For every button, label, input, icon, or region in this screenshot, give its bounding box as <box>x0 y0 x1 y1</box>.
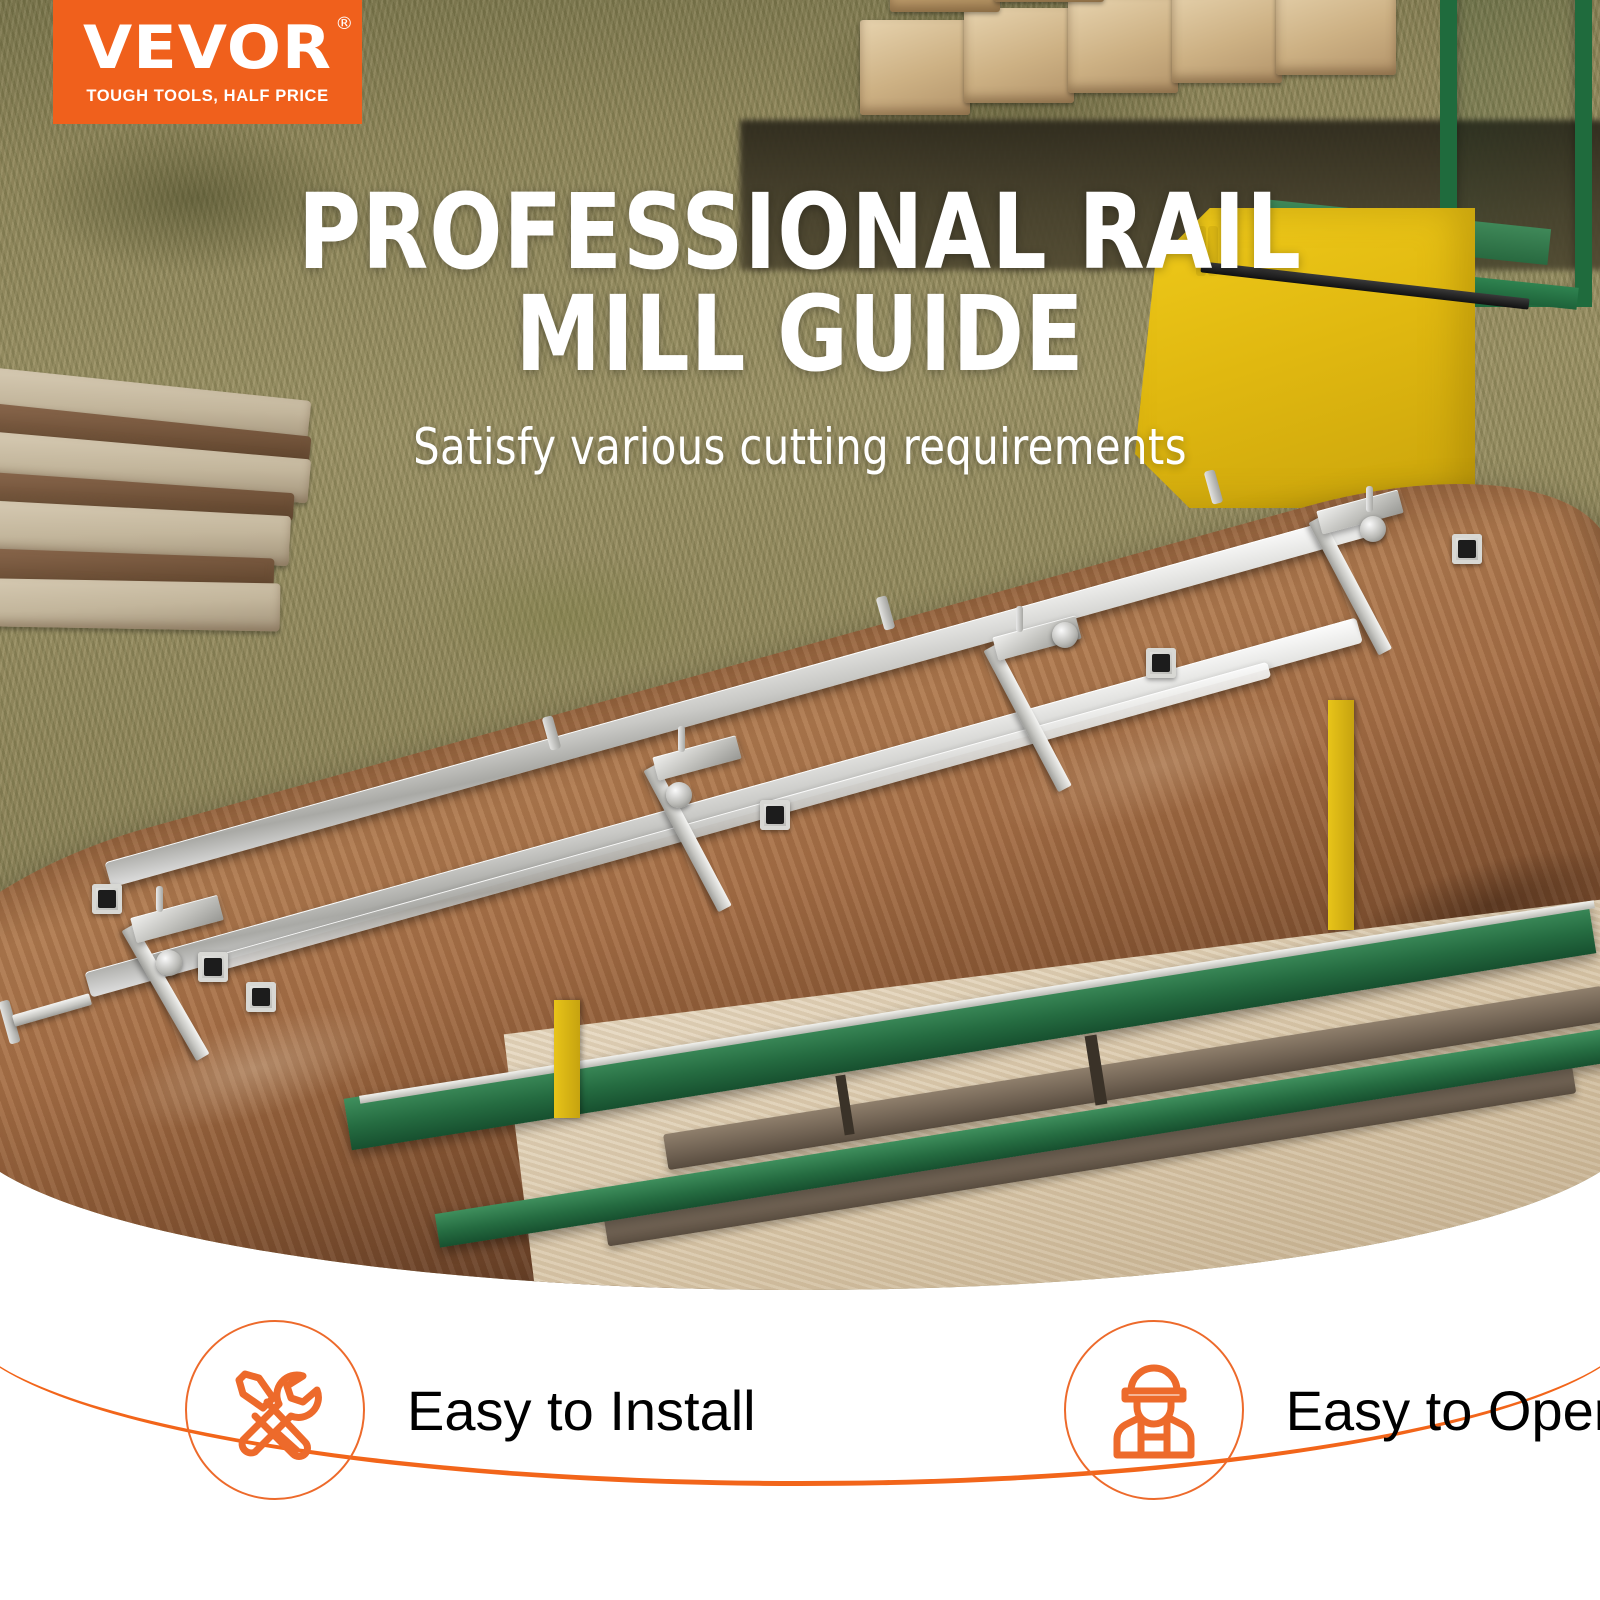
headline-line-2: MILL GUIDE <box>64 284 1536 386</box>
brand-tagline: TOUGH TOOLS, HALF PRICE <box>86 87 328 106</box>
wrench-screwdriver-icon <box>219 1354 331 1466</box>
feature-icon-badge <box>1064 1320 1244 1500</box>
feature-easy-to-operate: Easy to Operate <box>1064 1320 1600 1500</box>
lumber-stack <box>860 0 1420 180</box>
registered-mark: ® <box>335 16 354 33</box>
yellow-post-1 <box>554 1000 580 1118</box>
brand-name: VEVOR® <box>83 18 332 78</box>
yellow-post-2 <box>1328 700 1354 930</box>
worker-hardhat-icon <box>1101 1357 1207 1463</box>
hero-headline: PROFESSIONAL RAIL MILL GUIDE <box>64 182 1536 386</box>
feature-label: Easy to Install <box>407 1378 756 1443</box>
feature-easy-to-install: Easy to Install <box>185 1320 756 1500</box>
feature-icon-badge <box>185 1320 365 1500</box>
feature-list: Easy to Install Easy to Operate <box>0 1315 1600 1505</box>
hero-subtitle: Satisfy various cutting requirements <box>56 418 1544 476</box>
product-marketing-image: VEVOR® TOUGH TOOLS, HALF PRICE PROFESSIO… <box>0 0 1600 1600</box>
feature-label: Easy to Operate <box>1286 1378 1600 1443</box>
vevor-logo: VEVOR® TOUGH TOOLS, HALF PRICE <box>53 0 362 124</box>
